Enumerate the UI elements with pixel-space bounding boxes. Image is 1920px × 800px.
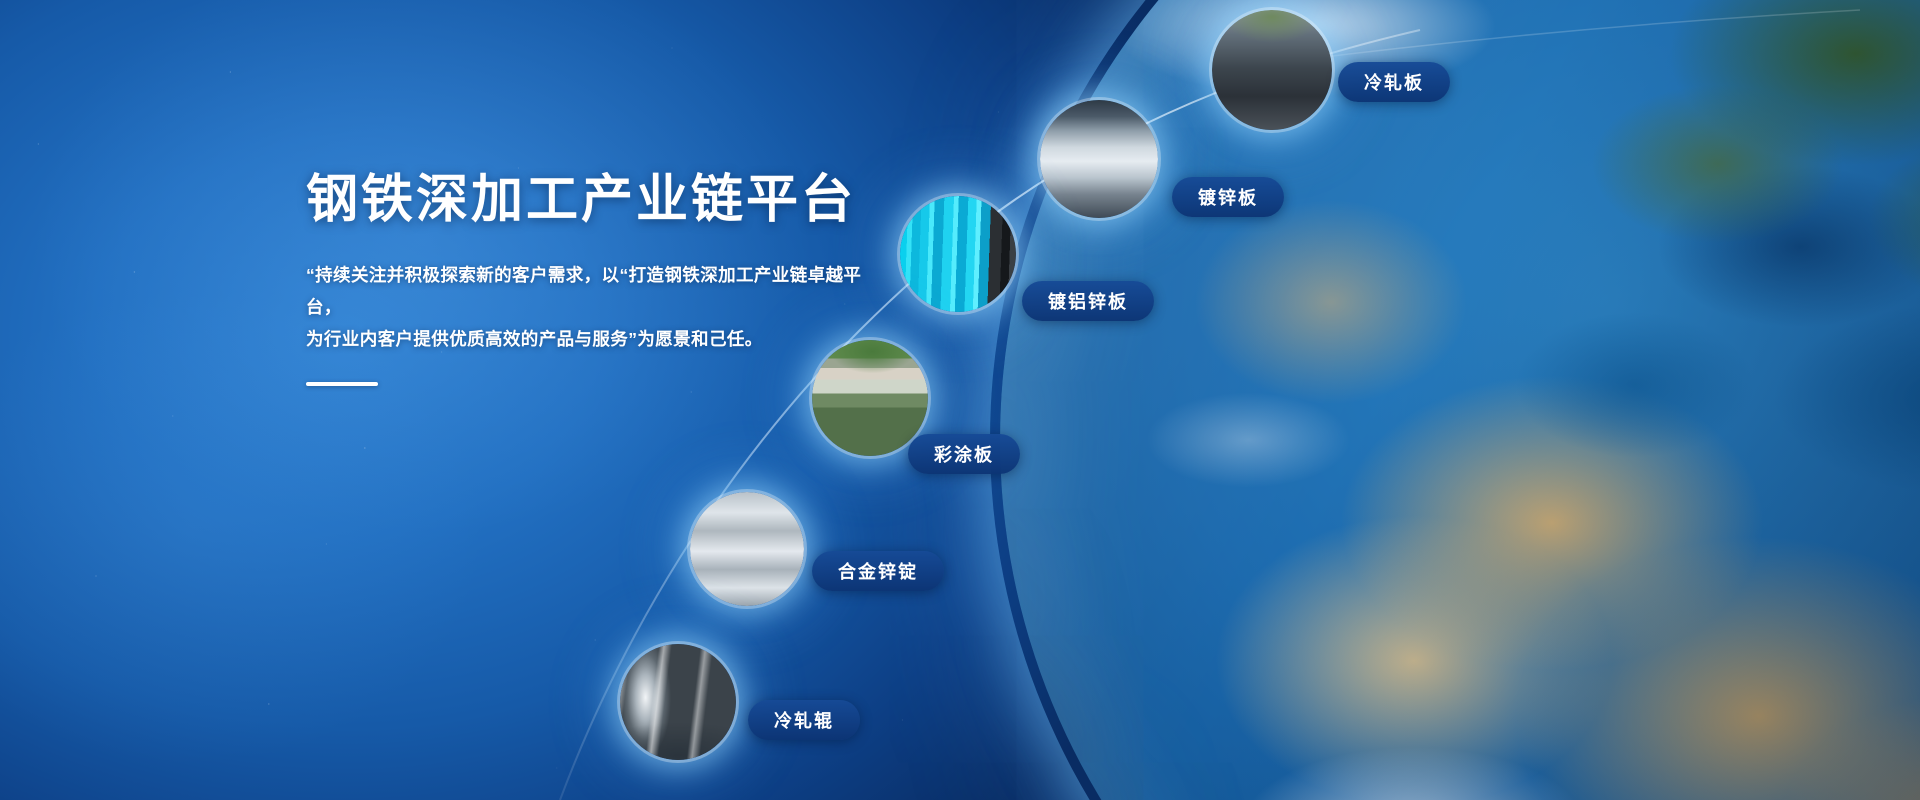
- subtitle-line-1: “持续关注并积极探索新的客户需求，以“打造钢铁深加工产业链卓越平台，: [306, 260, 866, 324]
- nebula-glow: [0, 0, 1920, 800]
- product-label-zinc-alloy-ingot[interactable]: 合金锌锭: [812, 551, 944, 591]
- product-label-cold-rolling-roller[interactable]: 冷轧辊: [748, 700, 860, 740]
- hero-banner: 钢铁深加工产业链平台 “持续关注并积极探索新的客户需求，以“打造钢铁深加工产业链…: [0, 0, 1920, 800]
- page-title: 钢铁深加工产业链平台: [306, 170, 926, 230]
- cold-roll-icon: [620, 644, 736, 760]
- product-thumb-aluzinc-sheet[interactable]: [900, 196, 1016, 312]
- product-label-aluzinc-sheet[interactable]: 镀铝锌板: [1022, 281, 1154, 321]
- product-label-cold-rolled-sheet[interactable]: 冷轧板: [1338, 62, 1450, 102]
- starfield-background: [0, 0, 1920, 800]
- product-thumb-cold-rolling-roller[interactable]: [620, 644, 736, 760]
- product-thumb-color-coated-sheet[interactable]: [812, 340, 928, 456]
- color-coated-coil-icon: [812, 340, 928, 456]
- product-thumb-cold-rolled-sheet[interactable]: [1212, 10, 1332, 130]
- subtitle-line-2: 为行业内客户提供优质高效的产品与服务”为愿景和己任。: [306, 324, 866, 356]
- product-thumb-zinc-alloy-ingot[interactable]: [690, 492, 804, 606]
- product-label-galvanized-sheet[interactable]: 镀锌板: [1172, 177, 1284, 217]
- product-thumb-galvanized-sheet[interactable]: [1040, 100, 1158, 218]
- product-label-color-coated-sheet[interactable]: 彩涂板: [908, 434, 1020, 474]
- coil-warehouse-icon: [1040, 100, 1158, 218]
- zinc-ingot-icon: [690, 492, 804, 606]
- steel-coil-icon: [1212, 10, 1332, 130]
- banner-subtitle: “持续关注并积极探索新的客户需求，以“打造钢铁深加工产业链卓越平台， 为行业内客…: [306, 260, 866, 356]
- aluzinc-coil-icon: [900, 196, 1016, 312]
- title-underline-rule: [306, 382, 378, 386]
- product-connector-arc: [0, 0, 1920, 800]
